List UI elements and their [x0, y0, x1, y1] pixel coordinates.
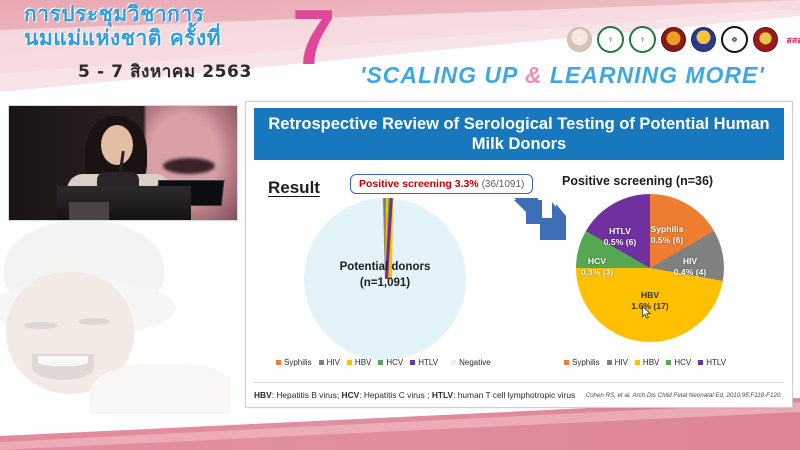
logo-royal-emblem-2-icon — [691, 27, 716, 52]
legend-label-syphilis-left: Syphilis — [284, 358, 312, 367]
legend-label-hbv-right: HBV — [643, 358, 659, 367]
conference-date: 5 - 7 สิงหาคม 2563 — [78, 58, 252, 85]
presentation-screenshot: การประชุมวิชาการ นมแม่แห่งชาติ ครั้งที่ … — [0, 0, 800, 450]
logo-thaihealth-sss-icon: สสส — [783, 28, 800, 51]
legend-item-htlv-right: HTLV — [698, 358, 726, 367]
video-projection-detail — [163, 158, 215, 174]
legend-item-htlv-left: HTLV — [410, 358, 438, 367]
legend-item-hcv-right: HCV — [666, 358, 691, 367]
pie-label-hiv-pct: 0.4% (4) — [662, 267, 718, 278]
positive-screening-legend: Syphilis HIV HBV HCV HTLV — [564, 358, 726, 367]
logo-royal-college-icon — [753, 27, 778, 52]
logo-ministry-public-health-2-icon: ⚕ — [629, 26, 656, 53]
footnote-hbv-def: : Hepatitis B virus; — [272, 390, 342, 400]
positive-screening-pie-title: Positive screening (n=36) — [562, 174, 782, 188]
legend-label-hiv-right: HIV — [615, 358, 628, 367]
logo-thai-breastfeeding-foundation-icon: ศ — [567, 27, 592, 52]
legend-item-syphilis-left: Syphilis — [276, 358, 312, 367]
footnote-htlv-abbr: HTLV — [432, 390, 453, 400]
pie-label-hiv-name: HIV — [662, 256, 718, 267]
child-watermark-image — [0, 218, 230, 414]
legend-label-hcv-left: HCV — [386, 358, 403, 367]
footnote-hcv-def: : Hepatitis C virus ; — [359, 390, 432, 400]
child-shoulder — [90, 364, 230, 414]
tagline-pre: 'SCALING UP — [360, 62, 525, 88]
legend-item-negative-left: Negative — [451, 358, 491, 367]
child-eye-right — [78, 318, 110, 325]
potential-donors-title: Potential donors — [294, 260, 476, 276]
slide-title: Retrospective Review of Serological Test… — [254, 108, 784, 160]
potential-donors-subtitle: (n=1,091) — [294, 276, 476, 292]
pie-label-htlv-pct: 0.5% (6) — [592, 237, 648, 248]
legend-label-hbv-left: HBV — [355, 358, 371, 367]
child-eye-left — [24, 322, 58, 329]
logo-university-seal-icon: ☸ — [721, 26, 748, 53]
logo-ministry-public-health-1-icon: ⚕ — [597, 26, 624, 53]
speaker-face — [101, 125, 133, 165]
legend-item-hbv-left: HBV — [347, 358, 371, 367]
legend-item-hcv-left: HCV — [378, 358, 403, 367]
slide-panel: Retrospective Review of Serological Test… — [245, 101, 793, 408]
conference-thai-title: การประชุมวิชาการ นมแม่แห่งชาติ ครั้งที่ — [24, 4, 314, 49]
positive-screening-callout: Positive screening 3.3% (36/1091) — [350, 174, 533, 194]
conference-thai-title-line1: การประชุมวิชาการ — [24, 4, 314, 25]
legend-label-negative-left: Negative — [459, 358, 491, 367]
result-heading: Result — [268, 178, 320, 198]
legend-item-hiv-left: HIV — [319, 358, 340, 367]
legend-item-syphilis-right: Syphilis — [564, 358, 600, 367]
legend-label-htlv-left: HTLV — [418, 358, 438, 367]
footnote-hcv-abbr: HCV — [342, 390, 360, 400]
conference-header: การประชุมวิชาการ นมแม่แห่งชาติ ครั้งที่ … — [0, 0, 800, 96]
pie-label-hiv: HIV 0.4% (4) — [662, 256, 718, 278]
positive-screening-pie[interactable]: Syphilis 0.5% (6) HIV 0.4% (4) HBV 1.6% … — [576, 194, 724, 342]
child-teeth — [38, 356, 88, 366]
legend-label-hcv-right: HCV — [674, 358, 691, 367]
legend-label-syphilis-right: Syphilis — [572, 358, 600, 367]
slide-citation: Cohen RS, et al. Arch Dis Child Fetal Ne… — [586, 392, 782, 399]
tagline-post: LEARNING MORE' — [542, 62, 764, 88]
mouse-cursor-icon — [642, 306, 652, 319]
blue-arrow-icon — [512, 194, 568, 244]
pie-label-hbv-name: HBV — [614, 290, 686, 301]
pie-label-hcv-name: HCV — [572, 256, 622, 267]
potential-donors-label: Potential donors (n=1,091) — [294, 260, 476, 291]
callout-detail: (36/1091) — [482, 179, 525, 190]
tagline-ampersand: & — [525, 62, 543, 88]
callout-highlight: Positive screening 3.3% — [359, 178, 479, 190]
pie-label-hcv-pct: 0.3% (3) — [572, 267, 622, 278]
footnote-divider — [254, 382, 784, 383]
logo-royal-emblem-1-icon — [661, 27, 686, 52]
pie-label-hcv: HCV 0.3% (3) — [572, 256, 622, 278]
conference-thai-title-line2: นมแม่แห่งชาติ ครั้งที่ — [24, 28, 314, 49]
footnote-hbv-abbr: HBV — [254, 390, 272, 400]
sponsor-logo-row: ศ ⚕ ⚕ ☸ สสส — [567, 26, 800, 53]
legend-item-hbv-right: HBV — [635, 358, 659, 367]
legend-label-htlv-right: HTLV — [706, 358, 726, 367]
footnote-htlv-def: : human T cell lymphotropic virus — [453, 390, 575, 400]
pie-label-htlv-name: HTLV — [592, 226, 648, 237]
potential-donors-legend: Syphilis HIV HBV HCV HTLV Negative — [276, 358, 491, 367]
legend-item-hiv-right: HIV — [607, 358, 628, 367]
legend-label-hiv-left: HIV — [327, 358, 340, 367]
speaker-video-panel[interactable] — [8, 105, 238, 221]
conference-edition-number: 7 — [292, 0, 335, 76]
pie-label-htlv: HTLV 0.5% (6) — [592, 226, 648, 248]
conference-tagline: 'SCALING UP & LEARNING MORE' — [360, 62, 765, 89]
